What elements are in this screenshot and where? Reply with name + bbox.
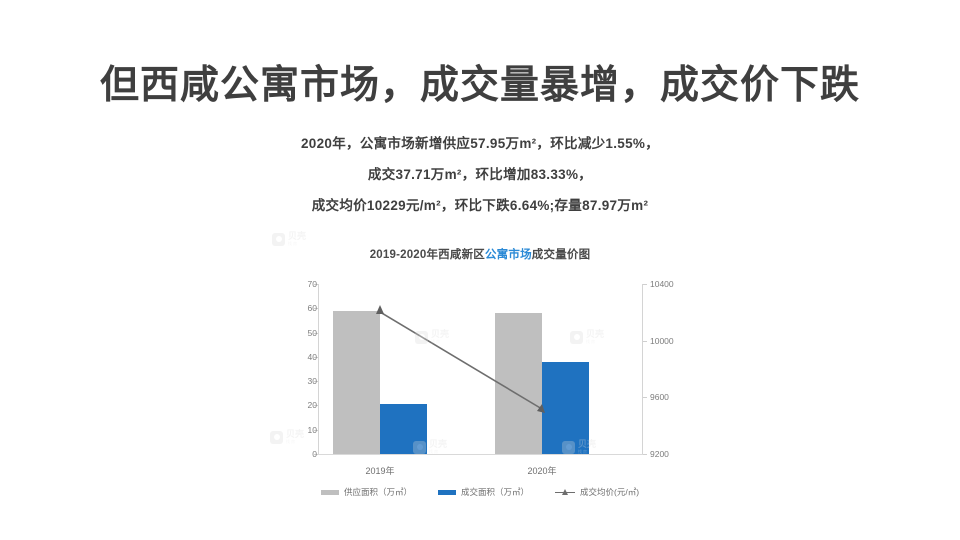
- legend-item-supply[interactable]: 供应面积（万㎡）: [321, 486, 412, 498]
- chart-legend: 供应面积（万㎡） 成交面积（万㎡） 成交均价(元/㎡): [255, 486, 705, 498]
- y-right-tick: [643, 341, 647, 342]
- legend-swatch-blue-icon: [438, 490, 456, 495]
- y-right-tick: [643, 284, 647, 285]
- chart-title-highlight: 公寓市场: [485, 249, 532, 261]
- price-marker-2020: [537, 404, 545, 413]
- y-left-label: 0: [312, 450, 317, 459]
- y-left-label: 30: [308, 377, 317, 386]
- y-right-label: 9200: [650, 450, 669, 459]
- y-right-label: 10000: [650, 337, 674, 346]
- summary-line-3: 成交均价10229元/m²，环比下跌6.64%;存量87.97万m²: [0, 190, 960, 221]
- summary-text-block: 2020年，公寓市场新增供应57.95万m²，环比减少1.55%， 成交37.7…: [0, 128, 960, 221]
- y-left-label: 50: [308, 329, 317, 338]
- chart-title-prefix: 2019-2020年西咸新区: [370, 249, 485, 261]
- legend-label-deal: 成交面积（万㎡）: [461, 486, 529, 498]
- y-left-label: 60: [308, 304, 317, 313]
- slide-canvas: 但西咸公寓市场，成交量暴增，成交价下跌 2020年，公寓市场新增供应57.95万…: [0, 0, 960, 540]
- legend-item-price[interactable]: 成交均价(元/㎡): [555, 486, 639, 498]
- y-right-label: 10400: [650, 280, 674, 289]
- chart-title-suffix: 成交量价图: [532, 249, 591, 261]
- legend-line-marker-icon: [555, 489, 575, 496]
- x-axis-label-2019: 2019年: [340, 464, 420, 477]
- summary-line-2: 成交37.71万m²，环比增加83.33%，: [0, 159, 960, 190]
- y-right-tick: [643, 454, 647, 455]
- y-left-label: 40: [308, 353, 317, 362]
- y-right-tick: [643, 397, 647, 398]
- chart-container: 2019-2020年西咸新区公寓市场成交量价图 0 10 20 30 40 50…: [255, 228, 705, 518]
- price-line-series: [318, 264, 643, 459]
- y-right-label: 9600: [650, 393, 669, 402]
- x-axis-label-2020: 2020年: [502, 464, 582, 477]
- chart-title: 2019-2020年西咸新区公寓市场成交量价图: [255, 246, 705, 262]
- legend-item-deal[interactable]: 成交面积（万㎡）: [438, 486, 529, 498]
- legend-swatch-gray-icon: [321, 490, 339, 495]
- y-left-label: 20: [308, 401, 317, 410]
- price-line-segment: [380, 312, 542, 409]
- legend-label-price: 成交均价(元/㎡): [580, 486, 639, 498]
- legend-label-supply: 供应面积（万㎡）: [344, 486, 412, 498]
- price-marker-2019: [376, 305, 384, 314]
- page-title: 但西咸公寓市场，成交量暴增，成交价下跌: [0, 62, 960, 110]
- y-left-label: 70: [308, 280, 317, 289]
- y-left-label: 10: [308, 426, 317, 435]
- plot-region: 0 10 20 30 40 50 60 70 9200 9600 10000 1…: [318, 284, 643, 454]
- summary-line-1: 2020年，公寓市场新增供应57.95万m²，环比减少1.55%，: [0, 128, 960, 159]
